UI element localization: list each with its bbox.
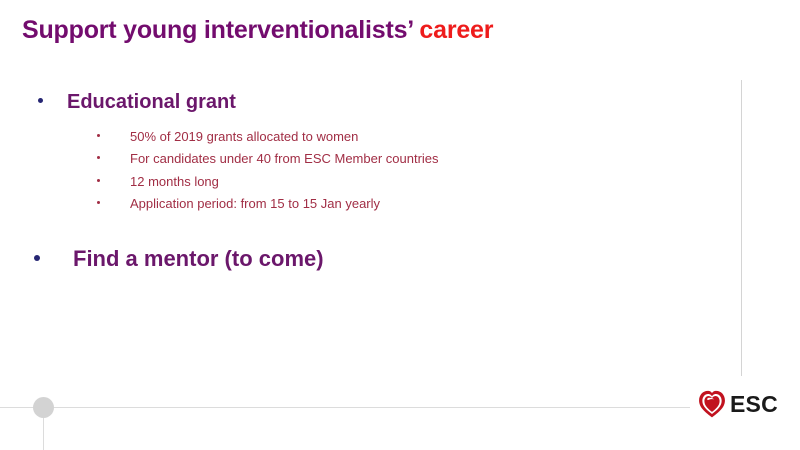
sub-bullet-dot-icon	[97, 179, 100, 182]
sub-bullet-list: 50% of 2019 grants allocated to women Fo…	[97, 126, 439, 215]
sub-bullet-dot-icon	[97, 156, 100, 159]
bullet-label: Educational grant	[67, 91, 236, 114]
bullet-item-find-a-mentor: Find a mentor (to come)	[34, 246, 324, 272]
bullet-dot-icon	[34, 255, 40, 261]
list-item: Application period: from 15 to 15 Jan ye…	[97, 193, 439, 215]
list-item: 50% of 2019 grants allocated to women	[97, 126, 439, 148]
horizontal-divider	[0, 407, 690, 408]
vertical-divider	[741, 80, 742, 376]
list-item: 12 months long	[97, 171, 439, 193]
sub-bullet-dot-icon	[97, 134, 100, 137]
esc-logo: ESC	[697, 389, 778, 419]
page-title-accent: career	[419, 16, 493, 44]
heart-icon	[697, 389, 727, 419]
sub-bullet-label: 50% of 2019 grants allocated to women	[130, 126, 358, 148]
slide-canvas: Support young interventionalists’ career…	[0, 0, 800, 450]
bullet-label: Find a mentor (to come)	[73, 246, 324, 272]
page-title-main: Support young interventionalists’	[22, 16, 419, 44]
sub-bullet-dot-icon	[97, 201, 100, 204]
bullet-dot-icon	[38, 98, 43, 103]
circle-marker-icon	[33, 397, 54, 418]
sub-bullet-label: Application period: from 15 to 15 Jan ye…	[130, 193, 380, 215]
esc-logo-text: ESC	[730, 393, 778, 416]
sub-bullet-label: For candidates under 40 from ESC Member …	[130, 148, 439, 170]
list-item: For candidates under 40 from ESC Member …	[97, 148, 439, 170]
page-title: Support young interventionalists’ career	[22, 15, 493, 45]
sub-bullet-label: 12 months long	[130, 171, 219, 193]
bullet-item-educational-grant: Educational grant	[38, 91, 236, 114]
